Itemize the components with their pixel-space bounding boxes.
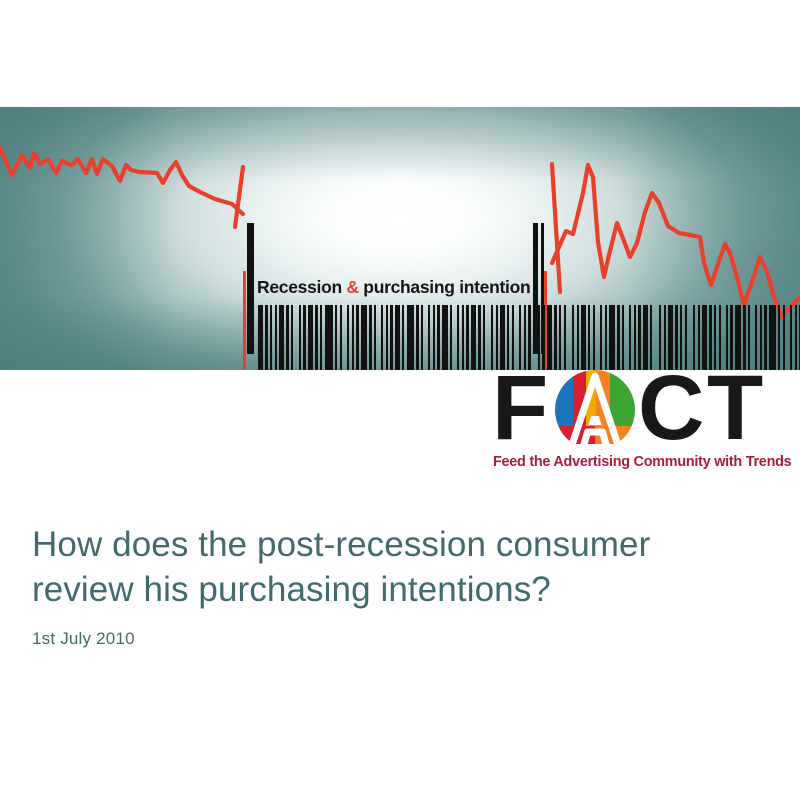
slide-date: 1st July 2010 (32, 629, 762, 649)
barcode-graphic: Recession & purchasing intention (243, 271, 555, 370)
barcode-bars (258, 305, 527, 370)
barcode-title-strip: Recession & purchasing intention (247, 271, 543, 305)
fact-colored-a-icon (555, 370, 635, 450)
trend-line-left (0, 148, 243, 214)
barcode-title-suffix: purchasing intention (359, 277, 531, 297)
fact-logo: F (492, 368, 788, 480)
barcode-title-prefix: Recession (257, 277, 346, 297)
barcode-title-text: Recession & purchasing intention (254, 279, 533, 297)
barcode-title-ampersand: & (346, 277, 358, 297)
trend-line-right (552, 165, 800, 317)
slide-title: How does the post-recession consumer rev… (32, 522, 762, 612)
slide-title-line-1: How does the post-recession consumer (32, 525, 650, 564)
trend-line-barcode-left-connector (235, 167, 243, 227)
barcode-inner: Recession & purchasing intention (247, 271, 543, 370)
hero-banner-image: Recession & purchasing intention (0, 107, 800, 370)
barcode-bar (407, 305, 414, 370)
a-base-trim (555, 444, 635, 450)
fact-letter-f: F (492, 364, 546, 452)
slide-title-line-2: review his purchasing intentions? (32, 570, 551, 609)
barcode-bar (325, 305, 333, 370)
barcode-guard-left (243, 271, 246, 370)
fact-tagline: Feed the Advertising Community with Tren… (493, 454, 789, 470)
barcode-end-bar-left (247, 223, 254, 354)
fact-wordmark: F (492, 368, 788, 456)
fact-letter-c: C (638, 364, 702, 452)
fact-letter-t: T (707, 364, 761, 452)
title-block: How does the post-recession consumer rev… (32, 522, 762, 649)
barcode-bar (769, 305, 776, 370)
slide-canvas: Recession & purchasing intention F (0, 0, 800, 800)
